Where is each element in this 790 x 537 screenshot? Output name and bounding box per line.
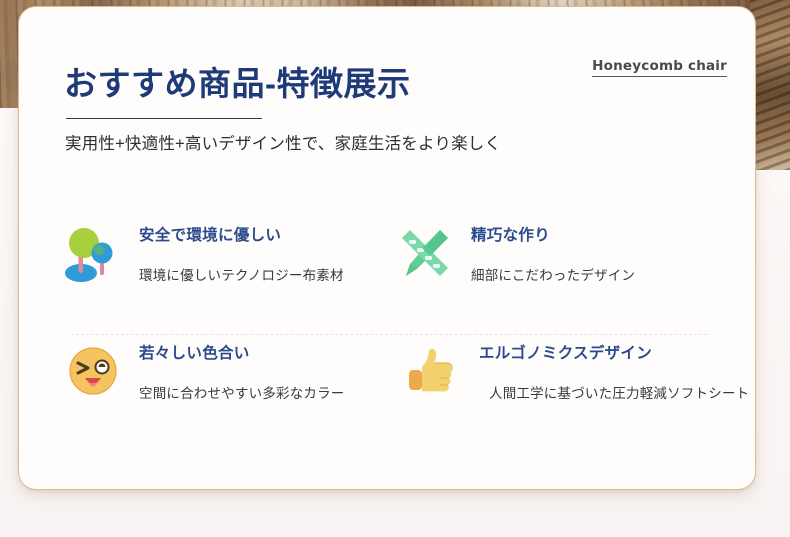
feature-text-eco: 安全で環境に優しい 環境に優しいテクノロジー布素材 xyxy=(139,221,344,284)
header-block: おすすめ商品-特徴展示 実用性+快適性+高いデザイン性で、家庭生活をより楽しく xyxy=(64,65,704,156)
crossed-pen-ruler-icon xyxy=(393,221,457,285)
features-grid: 安全で環境に優しい 環境に優しいテクノロジー布素材 xyxy=(61,213,721,449)
feature-text-ergonomic: エルゴノミクスデザイン 人間工学に基づいた圧力軽減ソフトシート xyxy=(479,339,749,402)
feature-description: 環境に優しいテクノロジー布素材 xyxy=(139,267,344,285)
feature-item-colors: 若々しい色合い 空間に合わせやすい多彩なカラー xyxy=(61,331,393,449)
feature-heading: 精巧な作り xyxy=(471,227,635,246)
feature-item-eco: 安全で環境に優しい 環境に優しいテクノロジー布素材 xyxy=(61,213,393,331)
feature-description: 細部にこだわったデザイン xyxy=(471,267,635,285)
page-title: おすすめ商品-特徴展示 xyxy=(64,65,704,104)
feature-heading: エルゴノミクスデザイン xyxy=(479,345,749,364)
winking-face-icon xyxy=(61,339,125,403)
feature-description: 人間工学に基づいた圧力軽減ソフトシート xyxy=(489,385,749,403)
thumbs-up-icon xyxy=(401,339,465,403)
feature-heading: 安全で環境に優しい xyxy=(139,227,344,246)
page-background: Honeycomb chair おすすめ商品-特徴展示 実用性+快適性+高いデザ… xyxy=(0,0,790,537)
feature-heading: 若々しい色合い xyxy=(139,345,345,364)
page-subtitle: 実用性+快適性+高いデザイン性で、家庭生活をより楽しく xyxy=(65,133,704,156)
feature-description: 空間に合わせやすい多彩なカラー xyxy=(139,385,345,403)
feature-text-colors: 若々しい色合い 空間に合わせやすい多彩なカラー xyxy=(139,339,345,402)
wood-desk-background-right xyxy=(750,0,790,170)
feature-item-craftsmanship: 精巧な作り 細部にこだわったデザイン xyxy=(393,213,721,331)
title-underline-rule xyxy=(66,118,262,119)
feature-item-ergonomic: エルゴノミクスデザイン 人間工学に基づいた圧力軽減ソフトシート xyxy=(393,331,721,449)
trees-icon xyxy=(61,221,125,285)
feature-showcase-card: Honeycomb chair おすすめ商品-特徴展示 実用性+快適性+高いデザ… xyxy=(18,6,756,490)
feature-text-craftsmanship: 精巧な作り 細部にこだわったデザイン xyxy=(471,221,635,284)
